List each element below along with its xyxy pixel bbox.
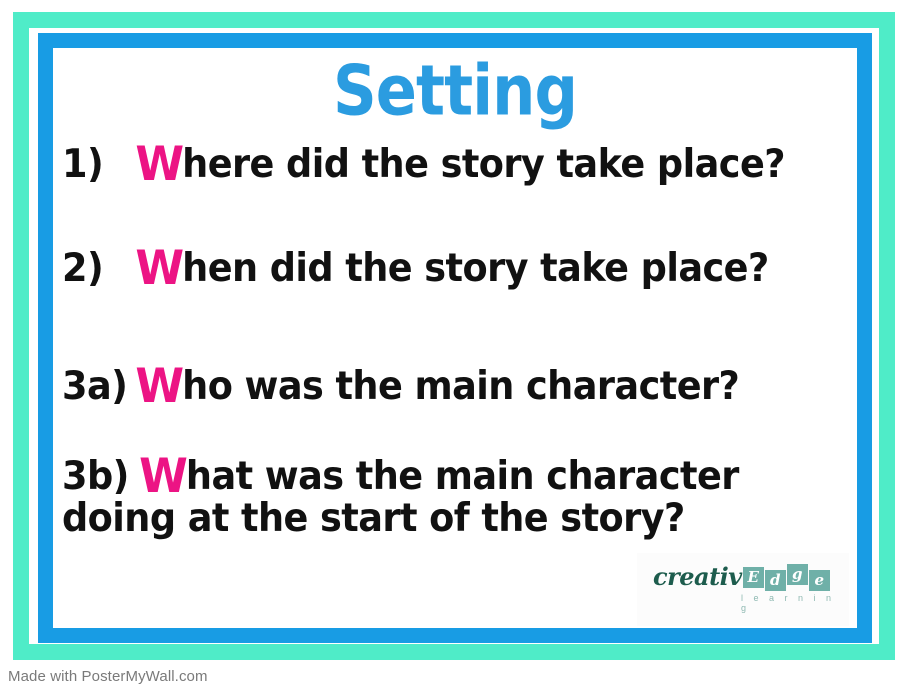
logo-tile-g: g bbox=[787, 564, 808, 585]
question-initial-3a: W bbox=[135, 359, 182, 414]
question-text-2: hen did the story take place? bbox=[182, 246, 769, 291]
question-item-3b: 3b)What was the main character doing at … bbox=[62, 456, 814, 540]
question-initial-3b: W bbox=[139, 449, 186, 504]
question-text-3a: ho was the main character? bbox=[182, 364, 739, 409]
logo-tagline: l e a r n i n g bbox=[741, 593, 843, 613]
question-number-3b: 3b) bbox=[62, 456, 139, 498]
logo-tile-e: e bbox=[809, 570, 830, 591]
question-initial-1: W bbox=[135, 137, 182, 192]
question-item-1: 1)Where did the story take place? bbox=[62, 144, 785, 186]
logo-wordmark: creativ bbox=[653, 565, 742, 589]
logo-lockup: creativEdge bbox=[653, 562, 830, 592]
poster-content-area: Setting 1)Where did the story take place… bbox=[53, 48, 857, 628]
question-item-2: 2)When did the story take place? bbox=[62, 248, 769, 290]
question-item-3a: 3a)Who was the main character? bbox=[62, 366, 739, 408]
poster-canvas: Setting 1)Where did the story take place… bbox=[0, 0, 900, 660]
question-text-1: here did the story take place? bbox=[182, 142, 785, 187]
postermywall-credit: Made with PosterMyWall.com bbox=[8, 668, 208, 685]
question-initial-2: W bbox=[135, 241, 182, 296]
question-number-3a: 3a) bbox=[62, 366, 135, 408]
question-number-2: 2) bbox=[62, 248, 135, 290]
page-title: Setting bbox=[85, 56, 825, 126]
logo-tile-e-capital: E bbox=[743, 567, 764, 588]
logo-tile-d: d bbox=[765, 570, 786, 591]
creativedge-logo: creativEdge l e a r n i n g bbox=[653, 560, 843, 618]
question-number-1: 1) bbox=[62, 144, 135, 186]
